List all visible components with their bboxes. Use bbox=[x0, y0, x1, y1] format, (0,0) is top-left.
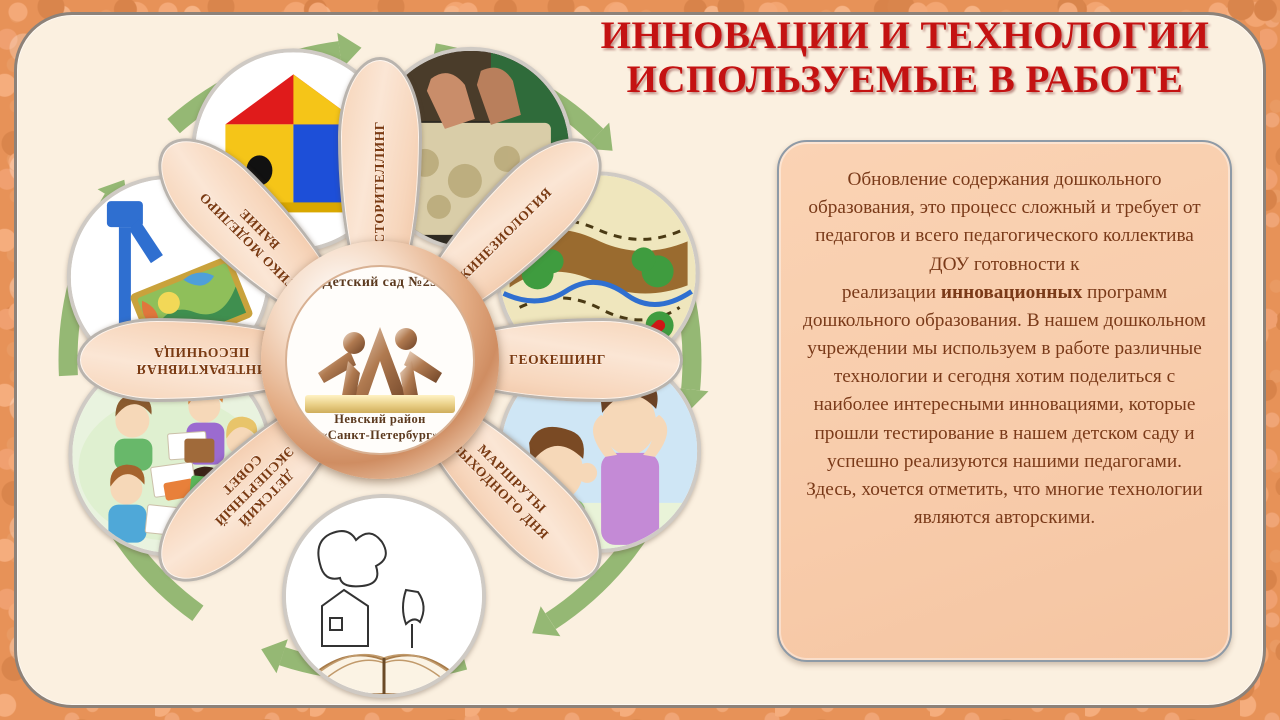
photo-open-book-drawing bbox=[282, 494, 486, 698]
info-paragraph-part-2: реализации bbox=[842, 282, 941, 303]
info-highlight-innovative: инновационных bbox=[941, 282, 1082, 303]
emblem-arc-top-text: Детский сад №23 bbox=[287, 275, 473, 291]
info-paragraph-part-1: Обновление содержания дошкольного образо… bbox=[808, 169, 1200, 275]
info-panel: Обновление содержания дошкольного образо… bbox=[777, 140, 1232, 662]
emblem-arc-bottom-text-1: Невский район bbox=[287, 412, 473, 427]
emblem-arc-bottom-text-2: «Санкт-Петербург» bbox=[287, 428, 473, 443]
emblem-ribbon bbox=[305, 395, 455, 413]
info-paragraph-part-3: программ дошкольного образования. В наше… bbox=[803, 282, 1206, 528]
kindergarten-emblem: Детский сад №23 Невский район bbox=[261, 241, 499, 479]
emblem-inner-disc: Детский сад №23 Невский район bbox=[285, 265, 475, 455]
flower-diagram: СТОРИТЕЛЛИНГКИНЕЗИОЛОГИЯГЕОКЕШИНГМАРШРУТ… bbox=[20, 0, 740, 720]
